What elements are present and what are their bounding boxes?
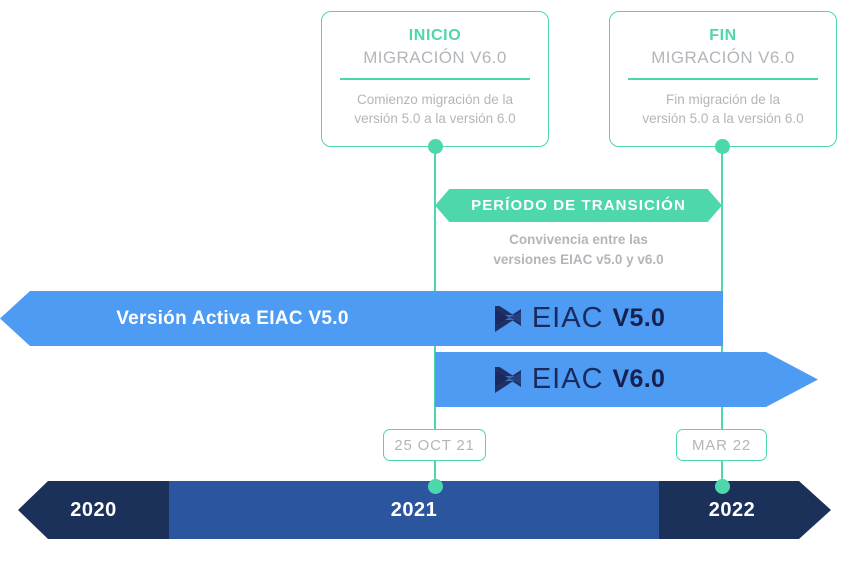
eiac-butterfly-logo-icon	[493, 367, 523, 393]
milestone-subtitle-fin: MIGRACIÓN V6.0	[624, 46, 822, 69]
axis-segment-2021[interactable]: 2021	[169, 481, 659, 539]
milestone-title-fin: FIN	[624, 26, 822, 46]
milestone-body-line1: Fin migración de la	[624, 90, 822, 109]
milestone-subtitle-inicio: MIGRACIÓN V6.0	[336, 46, 534, 69]
date-pill-end-label: MAR 22	[692, 437, 751, 454]
transition-note-line2: versiones EIAC v5.0 y v6.0	[435, 250, 722, 270]
milestone-body-fin: Fin migración de la versión 5.0 a la ver…	[624, 90, 822, 128]
transition-note: Convivencia entre las versiones EIAC v5.…	[435, 230, 722, 270]
eiac-logo-version: V5.0	[613, 304, 666, 333]
date-pill-end[interactable]: MAR 22	[676, 429, 767, 461]
eiac-butterfly-logo-icon	[493, 306, 523, 332]
axis-segment-2020[interactable]: 2020	[18, 481, 169, 539]
eiac-logo-wordmark: EIAC	[532, 363, 604, 396]
milestone-body-line2: versión 5.0 a la versión 6.0	[336, 109, 534, 128]
card-divider	[340, 78, 530, 80]
axis-label-2021: 2021	[391, 499, 438, 522]
milestone-card-inicio[interactable]: INICIO MIGRACIÓN V6.0 Comienzo migración…	[321, 11, 549, 147]
eiac-logo-version: V6.0	[613, 365, 666, 394]
timeline-diagram: INICIO MIGRACIÓN V6.0 Comienzo migración…	[0, 0, 849, 565]
milestone-dot-inicio	[428, 139, 443, 154]
eiac-logo-v6: EIAC V6.0	[435, 363, 723, 396]
date-pill-start-label: 25 OCT 21	[394, 437, 474, 454]
milestone-body-line2: versión 5.0 a la versión 6.0	[624, 109, 822, 128]
eiac-logo-v5: EIAC V5.0	[435, 302, 723, 335]
axis-segment-2022[interactable]: 2022	[659, 481, 831, 539]
axis-label-2022: 2022	[709, 499, 756, 522]
transition-note-line1: Convivencia entre las	[435, 230, 722, 250]
eiac-logo-wordmark: EIAC	[532, 302, 604, 335]
version-bar-v5-label: Versión Activa EIAC V5.0	[30, 308, 435, 330]
milestone-title-inicio: INICIO	[336, 26, 534, 46]
axis-dot-start	[428, 479, 443, 494]
milestone-body-inicio: Comienzo migración de la versión 5.0 a l…	[336, 90, 534, 128]
axis-label-2020: 2020	[70, 499, 117, 522]
milestone-dot-fin	[715, 139, 730, 154]
axis-dot-end	[715, 479, 730, 494]
card-divider	[628, 78, 818, 80]
transition-banner[interactable]: PERÍODO DE TRANSICIÓN	[435, 189, 722, 222]
version-bar-v6[interactable]: EIAC V6.0	[435, 352, 818, 407]
transition-banner-label: PERÍODO DE TRANSICIÓN	[471, 197, 686, 214]
version-bar-v5[interactable]: Versión Activa EIAC V5.0 EIAC V5.0	[0, 291, 723, 346]
milestone-card-fin[interactable]: FIN MIGRACIÓN V6.0 Fin migración de la v…	[609, 11, 837, 147]
milestone-body-line1: Comienzo migración de la	[336, 90, 534, 109]
date-pill-start[interactable]: 25 OCT 21	[383, 429, 486, 461]
